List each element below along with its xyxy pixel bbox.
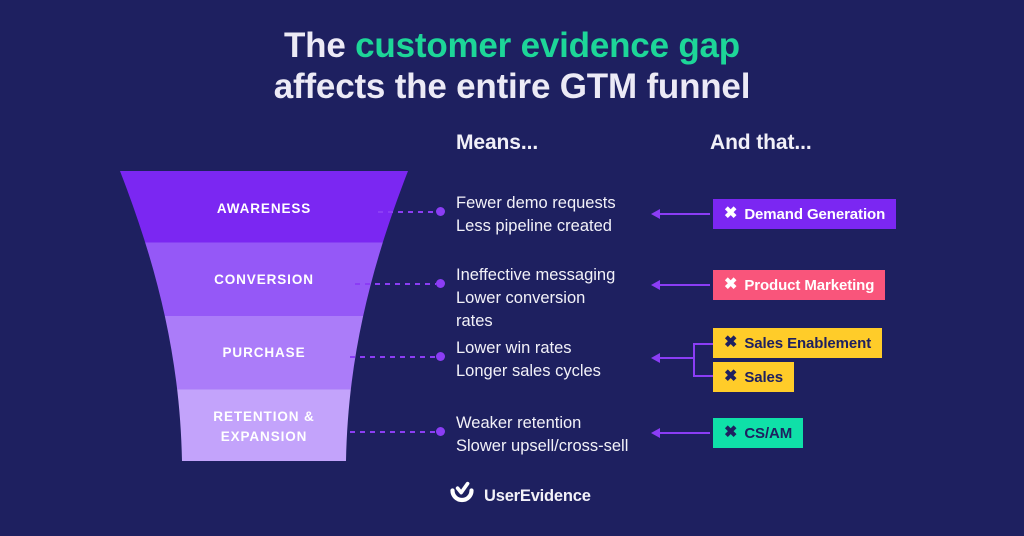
badge-sales-enablement[interactable]: ✖ Sales Enablement <box>713 328 882 358</box>
funnel-segment-awareness <box>118 169 410 243</box>
x-icon: ✖ <box>724 335 737 351</box>
check-in-bowl-icon <box>449 481 475 512</box>
title-line-1: The customer evidence gap <box>0 26 1024 67</box>
x-icon: ✖ <box>724 425 737 441</box>
title-line-2: affects the entire GTM funnel <box>0 67 1024 108</box>
connector-dotted-3 <box>350 356 436 358</box>
badge-label: Sales Enablement <box>744 335 871 352</box>
arrow-line-4 <box>660 432 710 434</box>
connector-dot-3 <box>436 352 445 361</box>
means-text-3: Lower win ratesLonger sales cycles <box>456 337 676 383</box>
connector-dot-4 <box>436 427 445 436</box>
x-icon: ✖ <box>724 277 737 293</box>
arrow-head-3 <box>651 353 660 363</box>
means-text-4: Weaker retentionSlower upsell/cross-sell <box>456 412 676 458</box>
connector-dotted-1 <box>378 211 436 213</box>
badge-label: Product Marketing <box>744 277 874 294</box>
title-prefix: The <box>284 26 355 65</box>
funnel-diagram: AWARENESS CONVERSION PURCHASE RETENTION … <box>118 169 410 463</box>
badge-demand-generation[interactable]: ✖ Demand Generation <box>713 199 896 229</box>
logo-wordmark: UserEvidence <box>484 487 591 506</box>
column-header-and-that: And that... <box>710 131 812 155</box>
badge-label: CS/AM <box>744 425 792 442</box>
arrow-line-2 <box>660 284 710 286</box>
badge-sales[interactable]: ✖ Sales <box>713 362 794 392</box>
badge-product-marketing[interactable]: ✖ Product Marketing <box>713 270 885 300</box>
funnel-segment-conversion <box>118 243 410 317</box>
means-text-1: Fewer demo requestsLess pipeline created <box>456 192 676 238</box>
page-title: The customer evidence gap affects the en… <box>0 26 1024 108</box>
infographic-canvas: The customer evidence gap affects the en… <box>0 0 1024 536</box>
title-accent: customer evidence gap <box>355 26 740 65</box>
arrow-line-1 <box>660 213 710 215</box>
badge-label: Demand Generation <box>744 206 885 223</box>
connector-dotted-4 <box>350 431 436 433</box>
badge-label: Sales <box>744 369 783 386</box>
connector-dotted-2 <box>355 283 436 285</box>
column-header-means: Means... <box>456 131 538 155</box>
funnel-svg <box>118 169 410 463</box>
brand-logo: UserEvidence <box>449 481 591 512</box>
funnel-segment-retention <box>118 390 410 464</box>
means-text-2: Ineffective messagingLower conversionrat… <box>456 264 676 332</box>
arrow-head-4 <box>651 428 660 438</box>
bracket-connector-sales <box>693 343 715 377</box>
funnel-segment-purchase <box>118 316 410 390</box>
arrow-line-3 <box>660 357 695 359</box>
badge-cs-am[interactable]: ✖ CS/AM <box>713 418 803 448</box>
arrow-head-1 <box>651 209 660 219</box>
arrow-head-2 <box>651 280 660 290</box>
x-icon: ✖ <box>724 206 737 222</box>
connector-dot-1 <box>436 207 445 216</box>
x-icon: ✖ <box>724 369 737 385</box>
connector-dot-2 <box>436 279 445 288</box>
